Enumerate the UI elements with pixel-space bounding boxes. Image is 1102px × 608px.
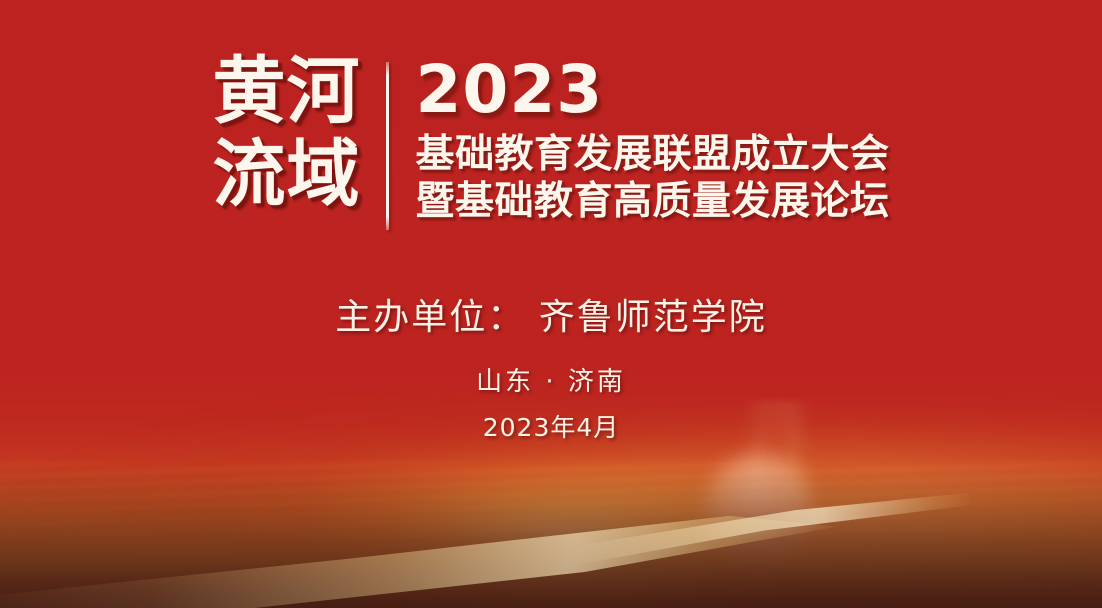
event-date: 2023年4月 (0, 408, 1102, 444)
event-location: 山东 · 济南 (0, 361, 1102, 398)
vertical-divider (386, 62, 389, 230)
conference-poster: 黄河 流域 2023 基础教育发展联盟成立大会 暨基础教育高质量发展论坛 主办单… (0, 0, 1102, 608)
masthead: 黄河 流域 2023 基础教育发展联盟成立大会 暨基础教育高质量发展论坛 (0, 54, 1102, 230)
subtitle-line-1: 基础教育发展联盟成立大会 (415, 131, 889, 179)
poster-content: 黄河 流域 2023 基础教育发展联盟成立大会 暨基础教育高质量发展论坛 主办单… (0, 0, 1102, 608)
host-organization: 主办单位： 齐鲁师范学院 (0, 288, 1102, 340)
credits-block: 主办单位： 齐鲁师范学院 山东 · 济南 2023年4月 (0, 288, 1102, 444)
headline-block: 2023 基础教育发展联盟成立大会 暨基础教育高质量发展论坛 (415, 54, 889, 226)
brand-line-2: 流域 (212, 141, 360, 210)
year-label: 2023 (415, 56, 603, 125)
subtitle-line-2: 暨基础教育高质量发展论坛 (415, 178, 889, 226)
brand-line-1: 黄河 (212, 58, 360, 127)
brand-wordmark: 黄河 流域 (212, 54, 360, 209)
